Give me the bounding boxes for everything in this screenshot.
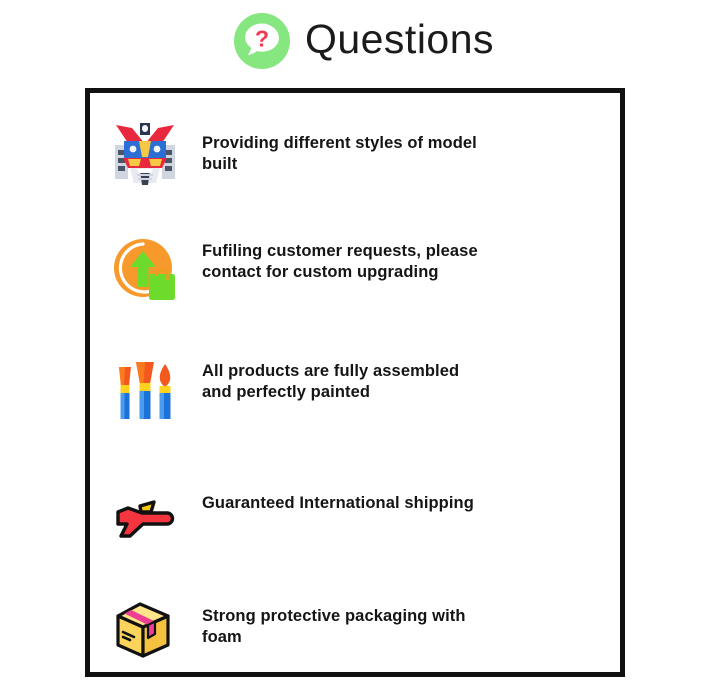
list-item: Guaranteed International shipping [110, 478, 492, 554]
questions-panel: Providing different styles of model buil… [85, 88, 625, 677]
list-item: All products are fully assembled and per… [110, 354, 492, 424]
list-item-label: Strong protective packaging with foam [180, 590, 492, 648]
questions-list: Providing different styles of model buil… [90, 93, 620, 672]
svg-text:?: ? [255, 26, 269, 52]
page-title: Questions [305, 19, 494, 64]
question-speech-bubble-icon: ? [233, 12, 291, 70]
page-header: ? Questions [0, 0, 727, 82]
paint-brushes-icon [110, 354, 180, 424]
list-item-label: Guaranteed International shipping [180, 478, 492, 514]
list-item: Strong protective packaging with foam [110, 590, 492, 664]
list-item-label: Providing different styles of model buil… [180, 119, 492, 175]
list-item: Fufiling customer requests, please conta… [110, 233, 492, 305]
list-item: Providing different styles of model buil… [110, 119, 492, 189]
airplane-icon [110, 484, 180, 554]
package-box-icon [110, 594, 180, 664]
list-item-label: All products are fully assembled and per… [180, 354, 492, 403]
list-item-label: Fufiling customer requests, please conta… [180, 233, 492, 283]
gundam-robot-head-icon [110, 119, 180, 189]
upgrade-shopping-bag-icon [110, 235, 180, 305]
